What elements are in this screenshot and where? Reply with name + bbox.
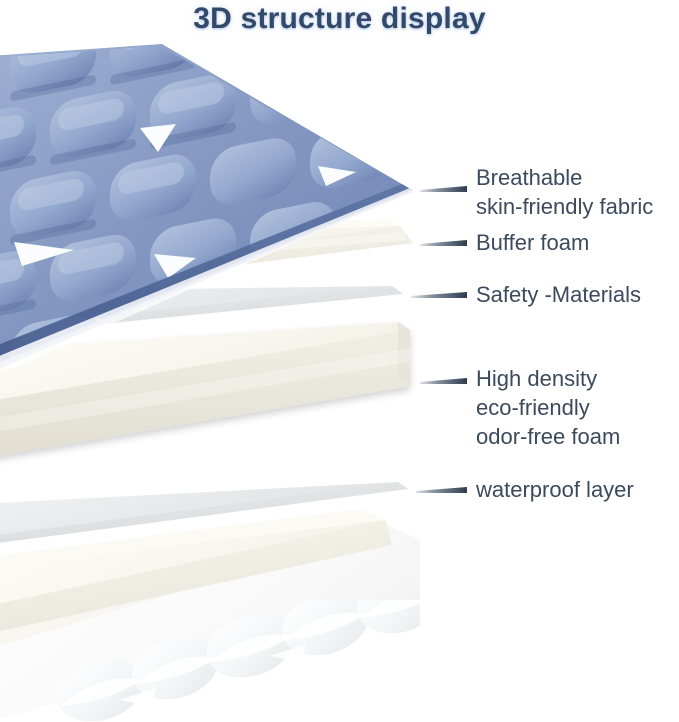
label-high-density-foam: High density eco-friendly odor-free foam [476,364,620,451]
label-buffer-foam: Buffer foam [476,228,589,257]
label-safety-materials: Safety -Materials [476,280,641,309]
label-waterproof-layer: waterproof layer [476,475,634,504]
leader-line-buffer [420,240,467,246]
leader-line-safety [411,292,467,298]
leader-line-high-density [420,378,467,384]
label-breathable-fabric: Breathable skin-friendly fabric [476,163,653,221]
diagram-canvas: 3D structure display [0,0,679,722]
leader-lines [411,186,467,493]
mattress-exploded-illustration [0,0,679,722]
leader-line-waterproof [416,487,467,493]
leader-line-fabric [420,186,467,192]
